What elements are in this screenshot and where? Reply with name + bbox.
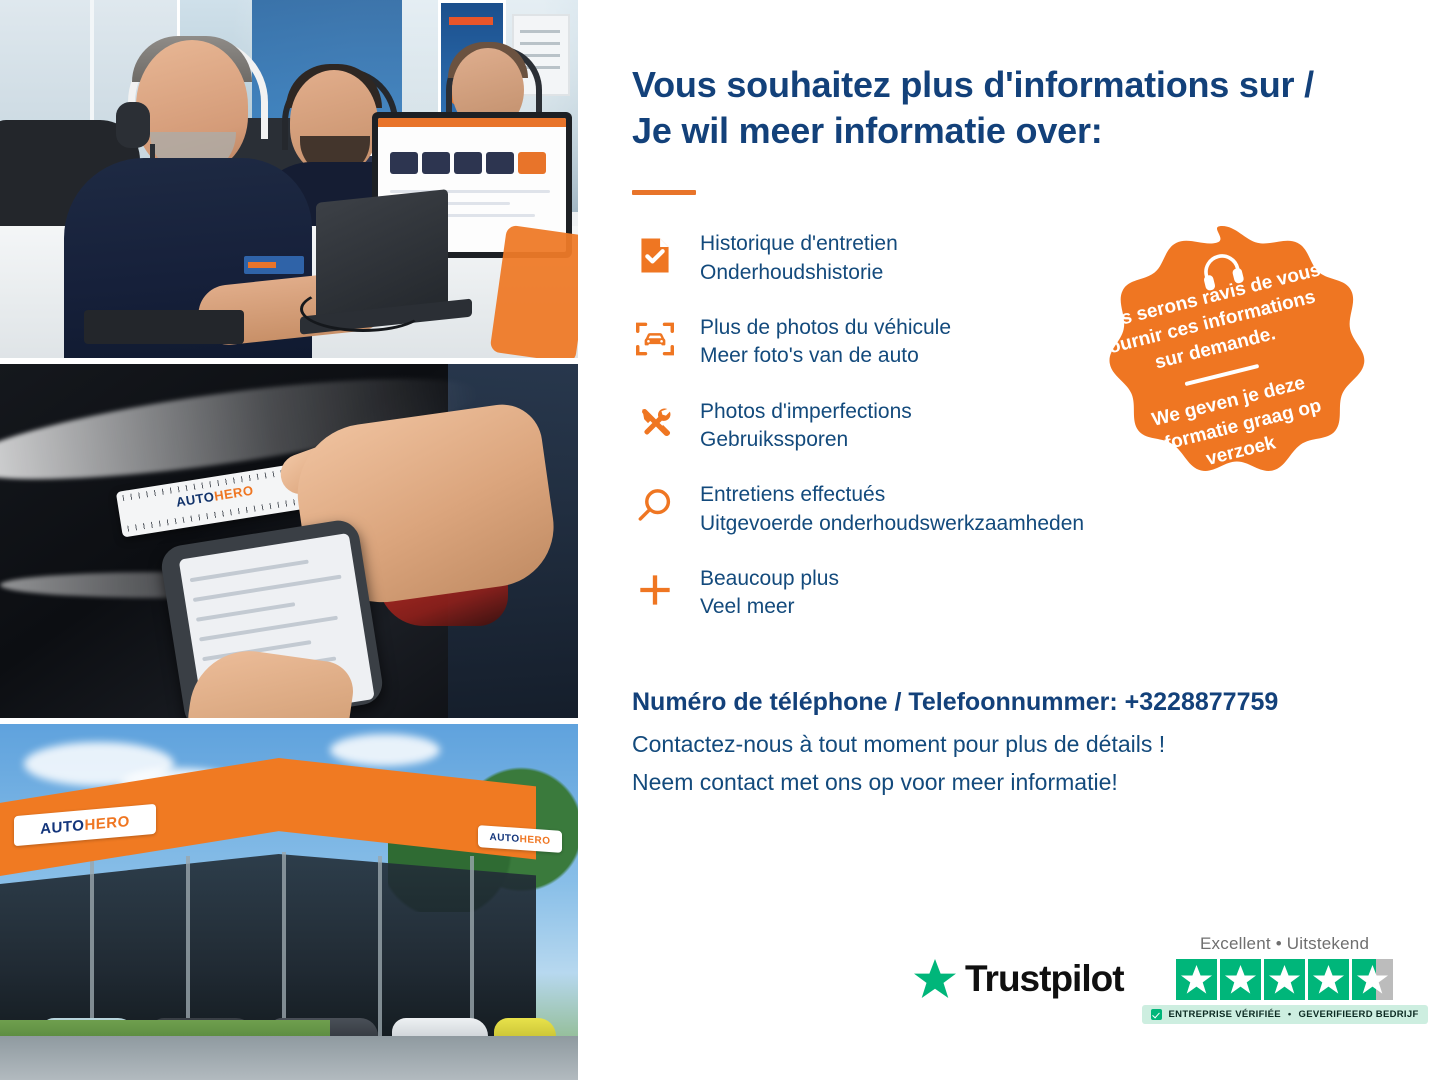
- magnifier-icon: [632, 480, 678, 532]
- plus-icon: [632, 564, 678, 616]
- sign-text-auto: AUTO: [40, 817, 84, 838]
- callout-badge: Nous serons ravis de vous fournir ces in…: [1063, 222, 1381, 545]
- trustpilot-wordmark: Trustpilot: [965, 958, 1124, 1000]
- contact-block: Numéro de téléphone / Telefoonnummer: +3…: [632, 686, 1432, 799]
- list-item-label-fr: Historique d'entretien: [700, 230, 898, 258]
- sign-text-hero: HERO: [84, 813, 129, 834]
- desk-notebook: [84, 310, 244, 344]
- vehicle-inspection-photo: AUTOHERO: [0, 364, 578, 718]
- tools-icon: [632, 397, 678, 449]
- verified-label-nl: GEVERIFIEERD BEDRIJF: [1299, 1009, 1419, 1020]
- ruler-logo-auto: AUTO: [175, 489, 215, 510]
- list-item-text: Beaucoup plus Veel meer: [700, 564, 839, 622]
- verified-label-fr: ENTREPRISE VÉRIFIÉE: [1169, 1009, 1281, 1020]
- trustpilot-widget[interactable]: Trustpilot Excellent • Uitstekend ENTREP…: [913, 934, 1428, 1024]
- trustpilot-rating-block: Excellent • Uitstekend ENTREPRISE VÉRIFI…: [1142, 934, 1428, 1024]
- phone-line: Numéro de téléphone / Telefoonnummer: +3…: [632, 686, 1432, 719]
- star-tile: [1264, 959, 1305, 1000]
- sign-text-hero: HERO: [520, 833, 551, 846]
- car-scan-icon: [632, 313, 678, 365]
- document-check-icon: [632, 229, 678, 281]
- list-item-label-fr: Photos d'imperfections: [700, 398, 912, 426]
- trustpilot-stars: [1176, 959, 1393, 1000]
- promo-page: AUTOHERO: [0, 0, 1440, 1080]
- list-item-text: Plus de photos du véhicule Meer foto's v…: [700, 313, 951, 371]
- photo-column: AUTOHERO: [0, 0, 578, 1080]
- headline-line-fr: Vous souhaitez plus d'informations sur /: [632, 64, 1314, 105]
- list-item-label-nl: Gebruikssporen: [700, 426, 912, 454]
- list-item-label-fr: Entretiens effectués: [700, 481, 1084, 509]
- list-item-label-nl: Onderhoudshistorie: [700, 259, 898, 287]
- star-tile: [1308, 959, 1349, 1000]
- verified-separator: •: [1288, 1009, 1292, 1020]
- trustpilot-star-icon: [913, 958, 957, 1000]
- trustpilot-rating-label: Excellent • Uitstekend: [1200, 934, 1369, 954]
- verified-badge: ENTREPRISE VÉRIFIÉE • GEVERIFIEERD BEDRI…: [1142, 1005, 1428, 1024]
- sign-text-auto: AUTO: [489, 831, 519, 844]
- list-item-label-nl: Veel meer: [700, 593, 839, 621]
- desk-cable: [300, 286, 426, 332]
- contact-cta-nl: Neem contact met ons op voor meer inform…: [632, 766, 1432, 798]
- list-item-text: Historique d'entretien Onderhoudshistori…: [700, 229, 898, 287]
- headline-line-nl: Je wil meer informatie over:: [632, 110, 1103, 151]
- call-center-agents-photo: [0, 0, 578, 358]
- star-tile: [1176, 959, 1217, 1000]
- content-panel: Vous souhaitez plus d'informations sur /…: [578, 0, 1440, 1080]
- contact-cta-fr: Contactez-nous à tout moment pour plus d…: [632, 728, 1432, 760]
- agent-foreground: [58, 40, 308, 330]
- title-divider: [632, 190, 696, 195]
- list-item-label-nl: Uitgevoerde onderhoudswerkzaamheden: [700, 510, 1084, 538]
- list-item-label-fr: Beaucoup plus: [700, 565, 839, 593]
- check-icon: [1151, 1009, 1162, 1020]
- list-item-label-fr: Plus de photos du véhicule: [700, 314, 951, 342]
- list-item-text: Entretiens effectués Uitgevoerde onderho…: [700, 480, 1084, 538]
- trustpilot-logo: Trustpilot: [913, 958, 1124, 1000]
- autohero-dealership-photo: AUTOHERO AUTOHERO: [0, 724, 578, 1080]
- page-title: Vous souhaitez plus d'informations sur /…: [632, 62, 1392, 154]
- list-item-label-nl: Meer foto's van de auto: [700, 342, 951, 370]
- list-item: Beaucoup plus Veel meer: [632, 564, 1272, 622]
- list-item-text: Photos d'imperfections Gebruikssporen: [700, 397, 912, 455]
- pavement: [0, 1036, 578, 1080]
- star-tile: [1220, 959, 1261, 1000]
- star-tile-partial: [1352, 959, 1393, 1000]
